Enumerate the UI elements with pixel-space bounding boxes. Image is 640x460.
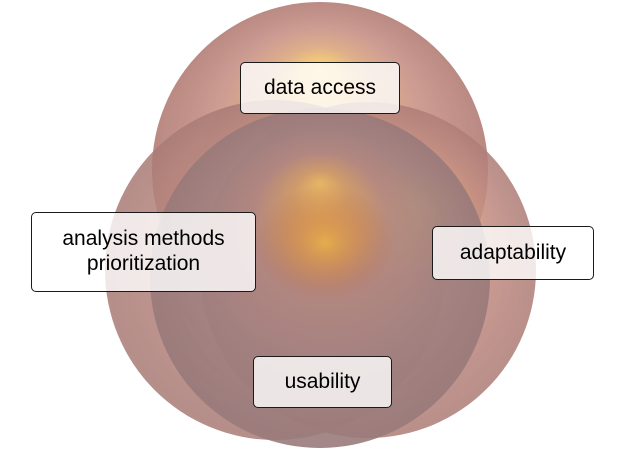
label-box-adaptability[interactable]: adaptability — [432, 226, 594, 280]
label-box-usability[interactable]: usability — [253, 356, 392, 408]
label-text-usability: usability — [254, 370, 391, 395]
center-overlap-glow — [255, 185, 395, 301]
label-text-data-access: data access — [241, 76, 399, 101]
label-text-adaptability: adaptability — [433, 241, 593, 266]
label-box-analysis-methods-prioritization[interactable]: analysis methods prioritization — [31, 212, 256, 292]
label-text-analysis-methods-prioritization: analysis methods prioritization — [32, 227, 255, 277]
venn-diagram-canvas: data access analysis methods prioritizat… — [0, 0, 640, 460]
label-box-data-access[interactable]: data access — [240, 62, 400, 114]
